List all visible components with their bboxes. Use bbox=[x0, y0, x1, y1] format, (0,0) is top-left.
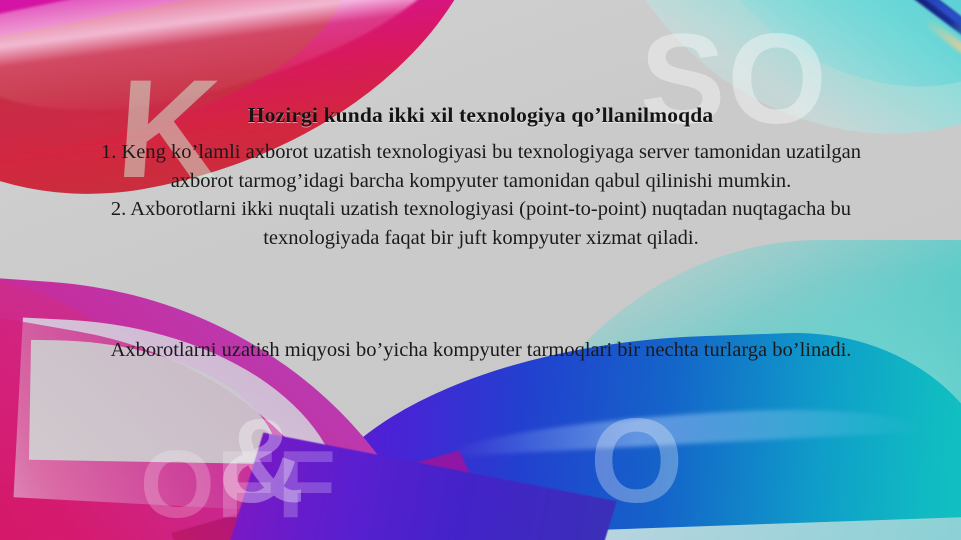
list-item-text: Keng ko’lamli axborot uzatish texnologiy… bbox=[121, 141, 861, 192]
numbered-list: 1. Keng ko’lamli axborot uzatish texnolo… bbox=[62, 138, 900, 252]
closing-paragraph: Axborotlarni uzatish miqyosi bo’yicha ko… bbox=[62, 336, 900, 365]
list-item-text: Axborotlarni ikki nuqtali uzatish texnol… bbox=[130, 198, 851, 249]
presentation-slide: K SO & O OFF Hozirgi kunda ikki xil texn… bbox=[0, 0, 961, 540]
slide-content: Hozirgi kunda ikki xil texnologiya qo’ll… bbox=[0, 0, 961, 540]
slide-body: 1. Keng ko’lamli axborot uzatish texnolo… bbox=[62, 138, 900, 252]
list-item-number: 2. bbox=[111, 198, 126, 220]
slide-title: Hozirgi kunda ikki xil texnologiya qo’ll… bbox=[0, 103, 961, 128]
list-item-number: 1. bbox=[101, 141, 116, 163]
list-item: 1. Keng ko’lamli axborot uzatish texnolo… bbox=[62, 138, 900, 195]
list-item: 2. Axborotlarni ikki nuqtali uzatish tex… bbox=[62, 195, 900, 252]
